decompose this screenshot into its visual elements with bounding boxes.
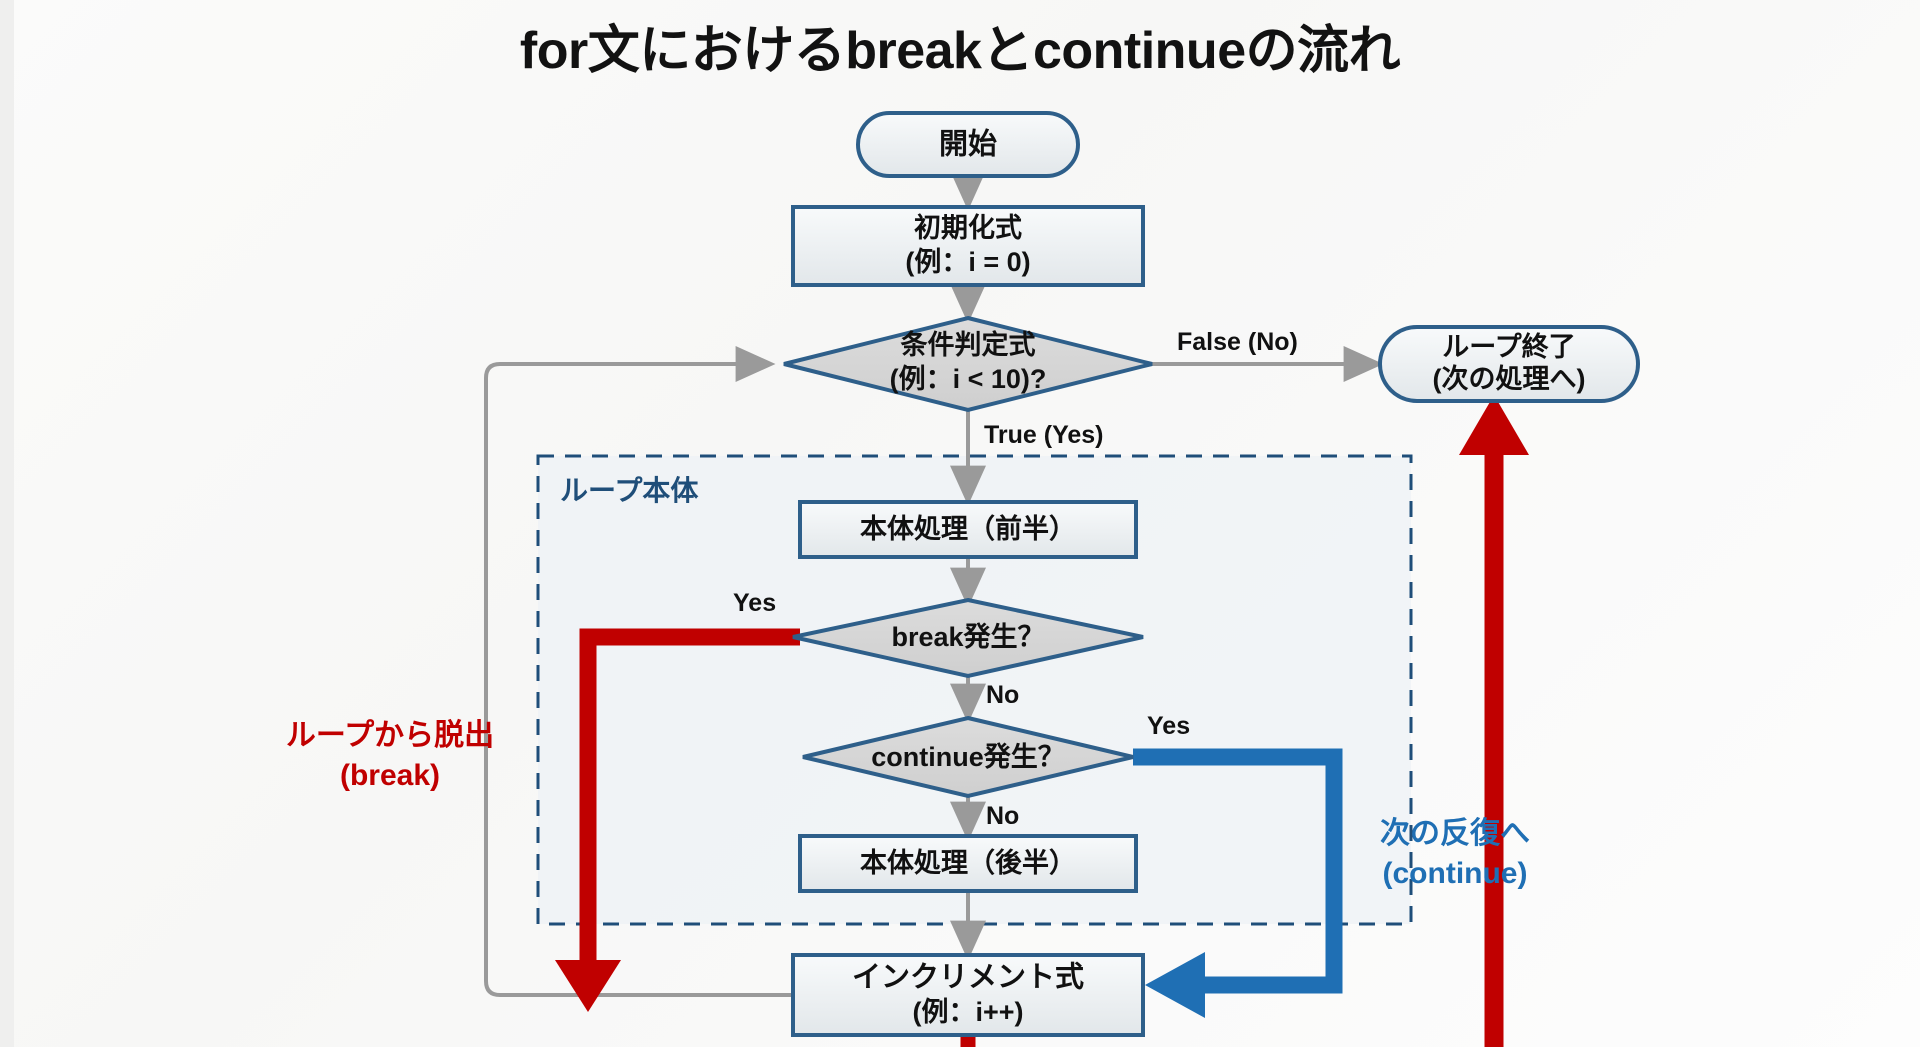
node-start-label: 開始	[939, 128, 997, 161]
node-init: 初期化式 (例：i = 0)	[793, 207, 1143, 285]
node-condition-line1: 条件判定式	[901, 329, 1036, 360]
edge-label-condition-false: False (No)	[1177, 328, 1298, 356]
node-init-line2: (例：i = 0)	[905, 247, 1030, 277]
node-body-second: 本体処理（後半）	[800, 836, 1136, 891]
node-increment: インクリメント式 (例：i++)	[793, 955, 1143, 1035]
node-body-first: 本体処理（前半）	[800, 502, 1136, 557]
flowchart-canvas: for文におけるbreakとcontinueの流れ ループ本体	[0, 0, 1920, 1047]
edge-label-break-no: No	[986, 681, 1019, 709]
node-increment-line1: インクリメント式	[852, 961, 1084, 994]
annotation-break-line2: (break)	[340, 759, 440, 792]
annotation-continue-line1: 次の反復へ	[1380, 817, 1530, 850]
node-condition: 条件判定式 (例：i < 10)?	[784, 318, 1152, 410]
continue-path-arrowhead	[1145, 952, 1205, 1018]
node-body-second-label: 本体処理（後半）	[860, 847, 1076, 878]
annotation-continue-line2: (continue)	[1383, 857, 1528, 890]
flowchart-svg: ループ本体 開始	[0, 0, 1920, 1047]
edge-label-condition-true: True (Yes)	[984, 421, 1104, 449]
loop-body-label: ループ本体	[560, 475, 699, 506]
node-continue-check-label: continue発生？	[871, 742, 1065, 772]
edge-label-break-yes: Yes	[733, 589, 776, 617]
node-break-check-label: break発生？	[891, 622, 1044, 652]
break-path-arrowhead	[555, 960, 621, 1012]
node-condition-line2: (例：i < 10)?	[890, 364, 1047, 394]
annotation-break-line1: ループから脱出	[286, 719, 494, 752]
node-init-line1: 初期化式	[914, 213, 1022, 243]
edge-label-continue-yes: Yes	[1147, 712, 1190, 740]
node-loop-end-line2: (次の処理へ)	[1433, 363, 1586, 394]
break-right-arrowhead	[1459, 395, 1529, 455]
node-loop-end-line1: ループ終了	[1442, 331, 1575, 362]
edge-label-continue-no: No	[986, 802, 1019, 830]
node-loop-end: ループ終了 (次の処理へ)	[1380, 327, 1638, 401]
node-body-first-label: 本体処理（前半）	[860, 513, 1076, 544]
node-increment-line2: (例：i++)	[912, 997, 1023, 1027]
node-start: 開始	[858, 113, 1078, 176]
